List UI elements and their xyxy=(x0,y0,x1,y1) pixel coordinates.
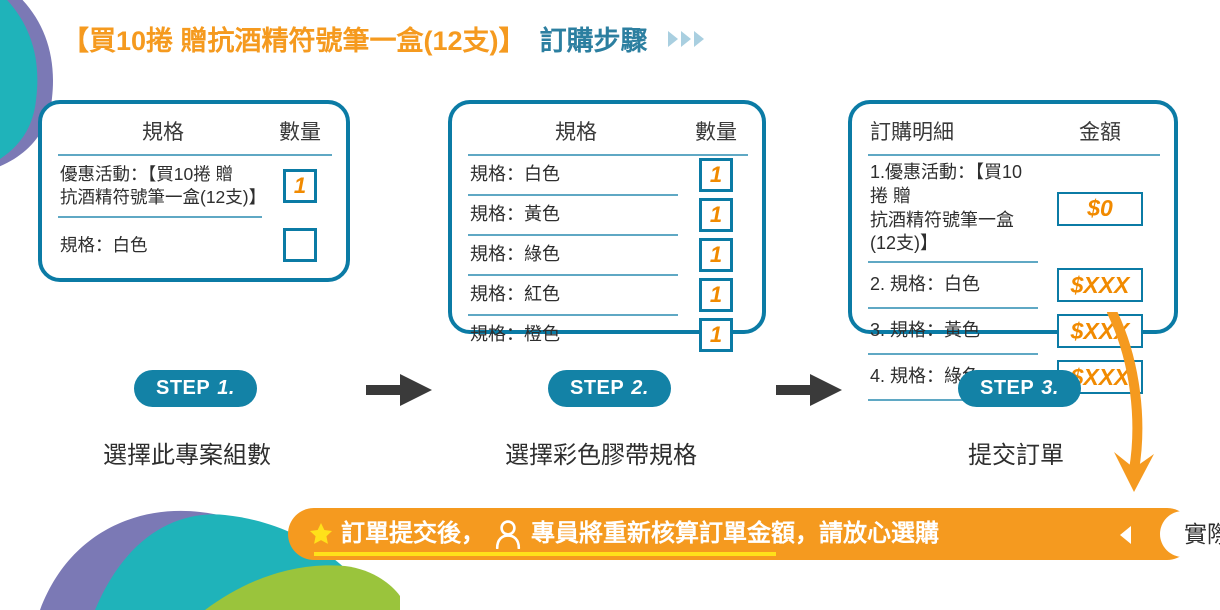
card2-col-spec: 規格 xyxy=(468,116,684,146)
card3-row1-amount-cell[interactable]: $0 xyxy=(1040,192,1160,226)
step-2-caption: 選擇彩色膠帶規格 xyxy=(505,435,697,470)
quantity-box[interactable]: 1 xyxy=(699,198,733,232)
table-row[interactable]: 規格：紅色 1 xyxy=(468,276,748,314)
step-1-badge[interactable]: STEP 1. xyxy=(134,370,257,407)
table-row[interactable]: 規格：白色 1 xyxy=(468,156,748,194)
question-pill-label: 實際訂單金額？ xyxy=(1184,523,1220,546)
table-row[interactable]: 規格：黃色 1 xyxy=(468,196,748,234)
step-1-number: 1. xyxy=(217,377,235,400)
card3-row3-label: 3. 規格：黃色 xyxy=(868,314,1040,348)
card3-row2-label: 2. 規格：白色 xyxy=(868,268,1040,302)
arrow-right-icon xyxy=(776,372,846,408)
card2-row5-label: 規格：橙色 xyxy=(468,319,684,351)
step-1-word: STEP xyxy=(156,377,210,400)
chevron-triple-icon xyxy=(668,31,704,47)
table-row[interactable]: 規格：橙色 1 xyxy=(468,316,748,354)
card2-row3-qty[interactable]: 1 xyxy=(684,238,748,272)
quantity-box[interactable]: 1 xyxy=(699,238,733,272)
card3-header-row: 訂購明細 金額 xyxy=(868,112,1160,154)
card3-col-detail: 訂購明細 xyxy=(868,116,1040,146)
amount-box[interactable]: $XXX xyxy=(1057,314,1143,348)
promo-title: 【買10捲 贈抗酒精符號筆一盒(12支)】 xyxy=(62,28,526,55)
card-step2-color-table[interactable]: 規格 數量 規格：白色 1 規格：黃色 1 規格：綠色 xyxy=(448,100,766,334)
quantity-box-empty[interactable] xyxy=(283,228,317,262)
card3-row1-label: 1.優惠活動：【買10捲 贈 抗酒精符號筆一盒(12支)】 xyxy=(868,156,1040,261)
step-2-badge[interactable]: STEP 2. xyxy=(548,370,671,407)
card2-row1-qty[interactable]: 1 xyxy=(684,158,748,192)
card2-row2-label: 規格：黃色 xyxy=(468,199,684,231)
arrow-right-icon xyxy=(366,372,436,408)
card2-row3-label: 規格：綠色 xyxy=(468,239,684,271)
page-title: 訂購步驟 xyxy=(540,28,648,55)
step-1-caption: 選擇此專案組數 xyxy=(103,435,271,470)
step-2-number: 2. xyxy=(631,377,649,400)
chevron-left-icon xyxy=(1120,526,1131,544)
card1-row1-qty[interactable]: 1 xyxy=(268,169,332,203)
card1-row2-qty[interactable] xyxy=(268,228,332,262)
star-icon xyxy=(308,521,334,547)
table-row[interactable]: 1.優惠活動：【買10捲 贈 抗酒精符號筆一盒(12支)】 $0 xyxy=(868,156,1160,261)
card-step1-spec-table[interactable]: 規格 數量 優惠活動：【買10捲 贈 抗酒精符號筆一盒(12支)】 1 規格：白… xyxy=(38,100,350,282)
notice-banner: 訂單提交後， 專員將重新核算訂單金額，請放心選購 實際訂單金額？ xyxy=(288,508,1193,560)
quantity-box[interactable]: 1 xyxy=(699,158,733,192)
question-pill[interactable]: 實際訂單金額？ xyxy=(1160,511,1220,557)
step-3-badge[interactable]: STEP 3. xyxy=(958,370,1081,407)
card1-row2-label: 規格：白色 xyxy=(58,227,268,264)
table-row[interactable]: 3. 規格：黃色 $XXX xyxy=(868,309,1160,353)
card2-row2-qty[interactable]: 1 xyxy=(684,198,748,232)
card1-row1-label: 優惠活動：【買10捲 贈 抗酒精符號筆一盒(12支)】 xyxy=(58,156,268,216)
quantity-box[interactable]: 1 xyxy=(283,169,317,203)
card3-row3-amount-cell[interactable]: $XXX xyxy=(1040,314,1160,348)
table-row[interactable]: 優惠活動：【買10捲 贈 抗酒精符號筆一盒(12支)】 1 xyxy=(58,156,332,216)
card2-row1-label: 規格：白色 xyxy=(468,159,684,191)
person-icon xyxy=(494,519,522,549)
card3-row2-amount-cell[interactable]: $XXX xyxy=(1040,268,1160,302)
poster-canvas: 【買10捲 贈抗酒精符號筆一盒(12支)】 訂購步驟 規格 數量 優惠活動：【買… xyxy=(0,0,1220,606)
quantity-box[interactable]: 1 xyxy=(699,278,733,312)
banner-underline xyxy=(314,552,776,556)
banner-text-part2: 專員將重新核算訂單金額，請放心選購 xyxy=(531,522,939,546)
card1-col-qty: 數量 xyxy=(268,116,332,146)
step-3-word: STEP xyxy=(980,377,1034,400)
step-3-caption: 提交訂單 xyxy=(968,435,1064,470)
card2-row5-qty[interactable]: 1 xyxy=(684,318,748,352)
banner-text-part1: 訂單提交後， xyxy=(341,522,485,546)
page-header: 【買10捲 贈抗酒精符號筆一盒(12支)】 訂購步驟 xyxy=(62,28,704,55)
table-row[interactable]: 規格：綠色 1 xyxy=(468,236,748,274)
table-row[interactable]: 2. 規格：白色 $XXX xyxy=(868,263,1160,307)
card3-col-amount: 金額 xyxy=(1040,116,1160,146)
amount-box[interactable]: $0 xyxy=(1057,192,1143,226)
card1-col-spec: 規格 xyxy=(58,116,268,146)
step-2-word: STEP xyxy=(570,377,624,400)
table-row[interactable]: 規格：白色 xyxy=(58,218,332,272)
card2-row4-qty[interactable]: 1 xyxy=(684,278,748,312)
step-3-number: 3. xyxy=(1041,377,1059,400)
amount-box[interactable]: $XXX xyxy=(1057,268,1143,302)
card1-header-row: 規格 數量 xyxy=(58,112,332,154)
card2-header-row: 規格 數量 xyxy=(468,112,748,154)
quantity-box[interactable]: 1 xyxy=(699,318,733,352)
card2-col-qty: 數量 xyxy=(684,116,748,146)
card2-row4-label: 規格：紅色 xyxy=(468,279,684,311)
card-step3-order-summary[interactable]: 訂購明細 金額 1.優惠活動：【買10捲 贈 抗酒精符號筆一盒(12支)】 $0… xyxy=(848,100,1178,334)
